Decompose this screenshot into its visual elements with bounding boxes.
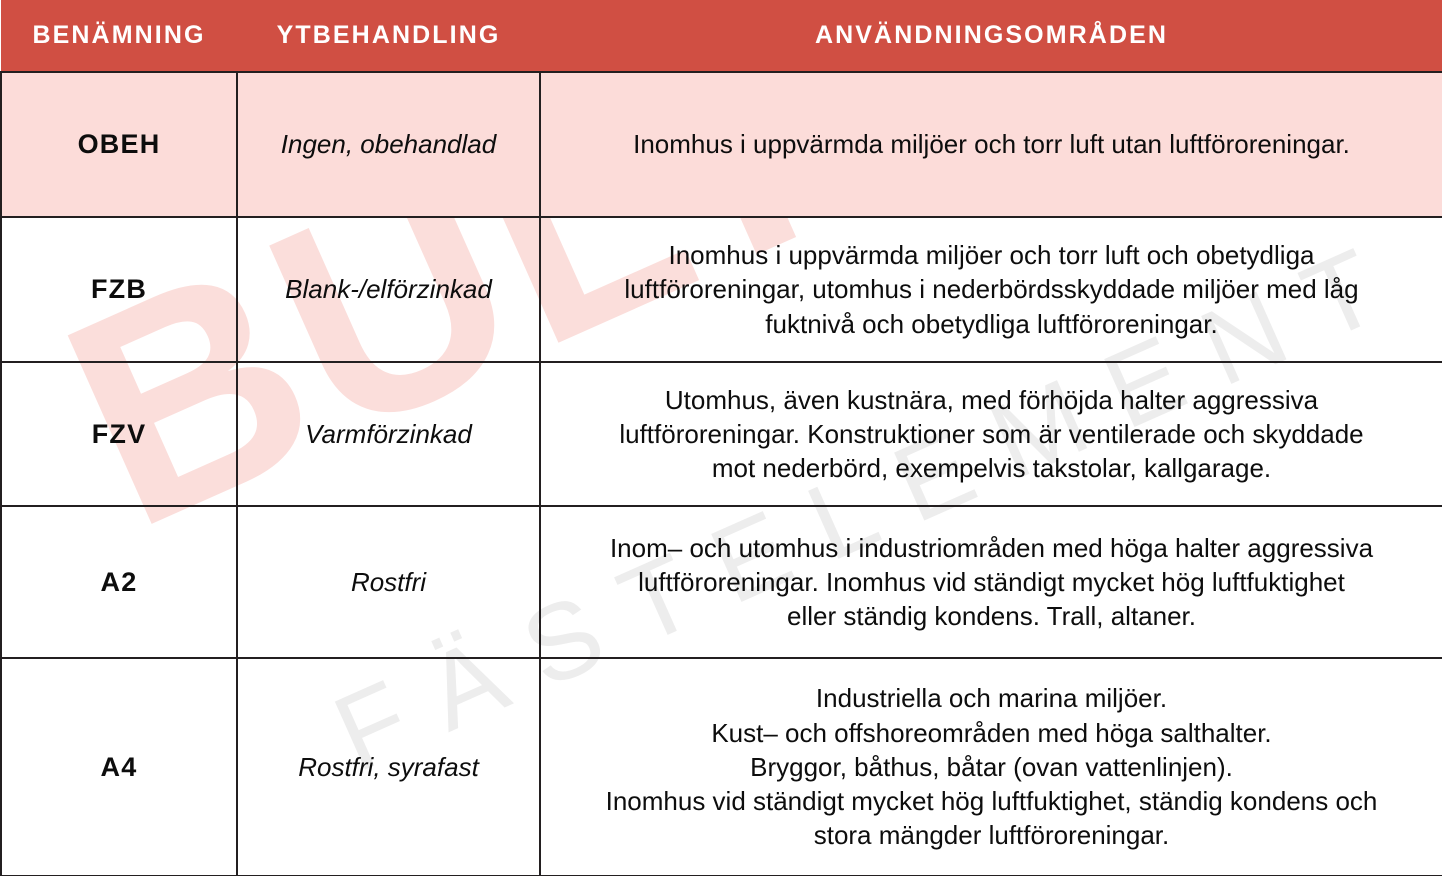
usage-line: mot nederbörd, exempelvis takstolar, kal… [563, 451, 1420, 485]
table-header-row: BENÄMNING YTBEHANDLING ANVÄNDNINGSOMRÅDE… [1, 0, 1442, 72]
cell-benamning: FZV [1, 362, 237, 506]
column-header-anvandningsomraden: ANVÄNDNINGSOMRÅDEN [540, 0, 1442, 72]
table-row: A4 Rostfri, syrafast Industriella och ma… [1, 658, 1442, 876]
usage-line: stora mängder luftföroreningar. [563, 818, 1420, 852]
table-row: OBEH Ingen, obehandlad Inomhus i uppvärm… [1, 72, 1442, 217]
table-header: BENÄMNING YTBEHANDLING ANVÄNDNINGSOMRÅDE… [1, 0, 1442, 72]
column-header-benamning: BENÄMNING [1, 0, 237, 72]
cell-ytbehandling: Blank-/elförzinkad [237, 217, 540, 362]
usage-line: luftföroreningar. Konstruktioner som är … [563, 417, 1420, 451]
cell-ytbehandling: Ingen, obehandlad [237, 72, 540, 217]
table-row: FZB Blank-/elförzinkad Inomhus i uppvärm… [1, 217, 1442, 362]
cell-benamning: A4 [1, 658, 237, 876]
usage-line: Inomhus vid ständigt mycket hög luftfukt… [563, 784, 1420, 818]
table-row: A2 Rostfri Inom– och utomhus i industrio… [1, 506, 1442, 658]
cell-benamning: A2 [1, 506, 237, 658]
usage-line: Bryggor, båthus, båtar (ovan vattenlinje… [563, 750, 1420, 784]
usage-line: eller ständig kondens. Trall, altaner. [563, 599, 1420, 633]
usage-line: Inom– och utomhus i industriområden med … [563, 531, 1420, 565]
usage-line: Utomhus, även kustnära, med förhöjda hal… [563, 383, 1420, 417]
usage-line: Inomhus i uppvärmda miljöer och torr luf… [563, 238, 1420, 272]
cell-ytbehandling: Varmförzinkad [237, 362, 540, 506]
cell-ytbehandling: Rostfri, syrafast [237, 658, 540, 876]
table-body: OBEH Ingen, obehandlad Inomhus i uppvärm… [1, 72, 1442, 876]
table-row: FZV Varmförzinkad Utomhus, även kustnära… [1, 362, 1442, 506]
cell-benamning: FZB [1, 217, 237, 362]
usage-line: luftföroreningar. Inomhus vid ständigt m… [563, 565, 1420, 599]
column-header-ytbehandling: YTBEHANDLING [237, 0, 540, 72]
usage-line: fuktnivå och obetydliga luftföroreningar… [563, 307, 1420, 341]
cell-anvandningsomraden: Utomhus, även kustnära, med förhöjda hal… [540, 362, 1442, 506]
cell-anvandningsomraden: Industriella och marina miljöer. Kust– o… [540, 658, 1442, 876]
cell-anvandningsomraden: Inomhus i uppvärmda miljöer och torr luf… [540, 217, 1442, 362]
usage-line: Kust– och offshoreområden med höga salth… [563, 716, 1420, 750]
cell-anvandningsomraden: Inom– och utomhus i industriområden med … [540, 506, 1442, 658]
usage-line: Industriella och marina miljöer. [563, 681, 1420, 715]
cell-ytbehandling: Rostfri [237, 506, 540, 658]
usage-line: luftföroreningar, utomhus i nederbördssk… [563, 272, 1420, 306]
surface-treatment-table: BENÄMNING YTBEHANDLING ANVÄNDNINGSOMRÅDE… [0, 0, 1442, 876]
page-root: BULTAB FÄSTELEMENT BENÄMNING YTBEHANDLIN… [0, 0, 1442, 876]
cell-benamning: OBEH [1, 72, 237, 217]
cell-anvandningsomraden: Inomhus i uppvärmda miljöer och torr luf… [540, 72, 1442, 217]
usage-line: Inomhus i uppvärmda miljöer och torr luf… [563, 127, 1420, 161]
table-container: BENÄMNING YTBEHANDLING ANVÄNDNINGSOMRÅDE… [0, 0, 1442, 876]
